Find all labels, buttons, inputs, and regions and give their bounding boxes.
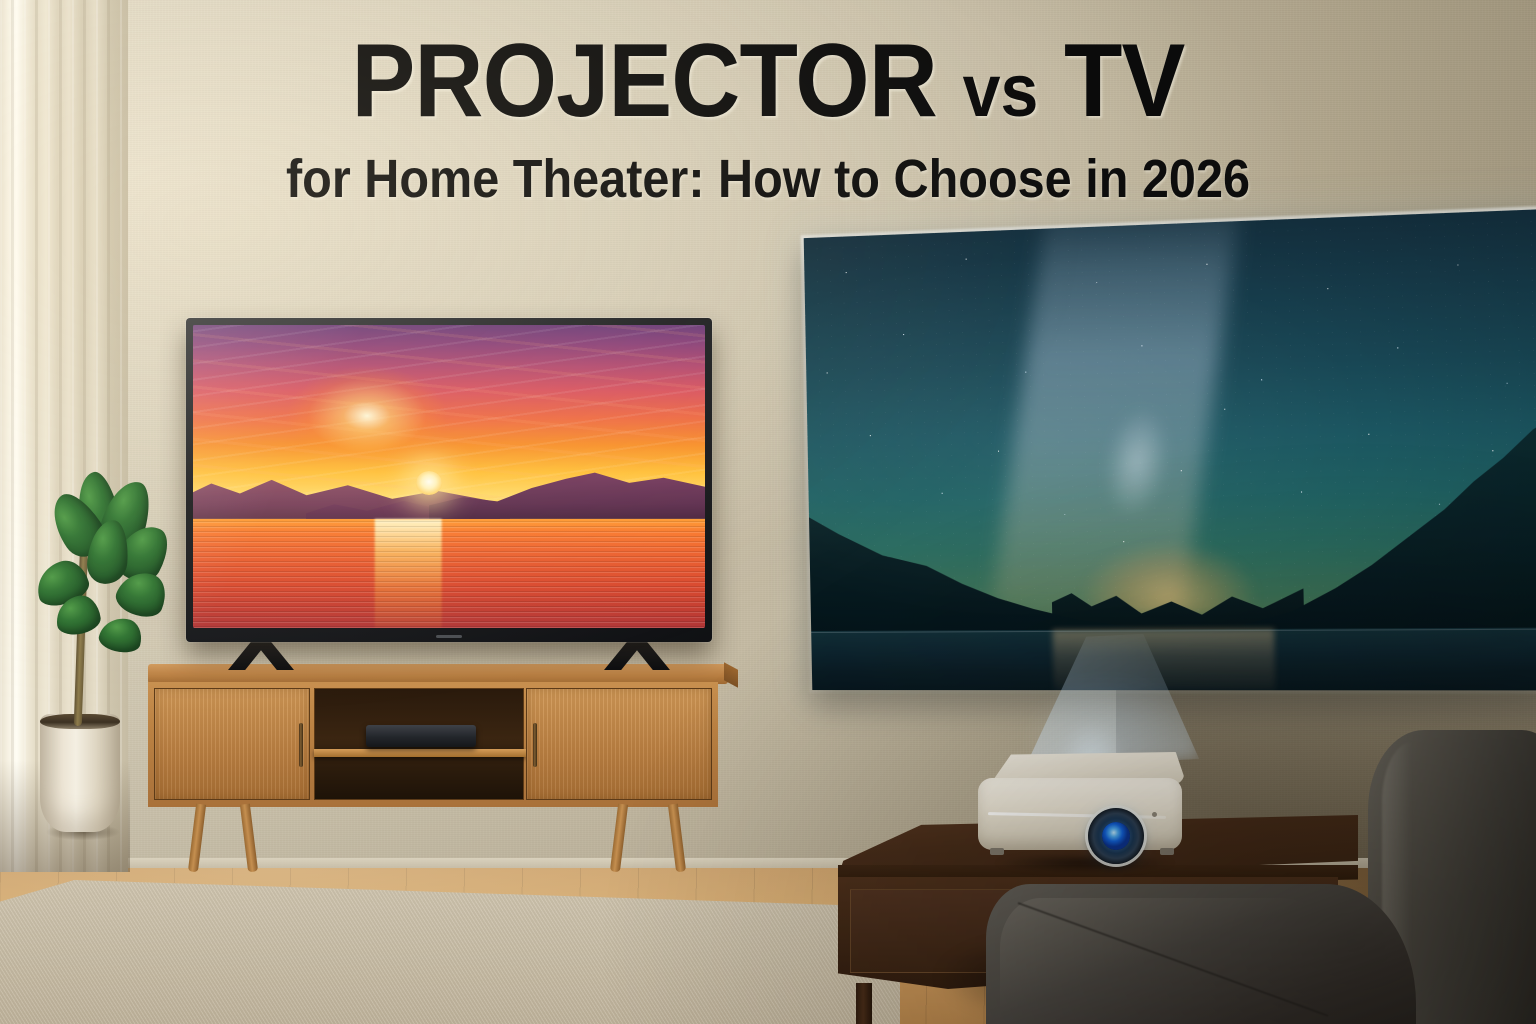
console-handle-left[interactable]	[299, 723, 303, 767]
soundbar-device[interactable]	[366, 725, 476, 747]
console-leg	[610, 804, 628, 873]
console-door-right[interactable]	[526, 688, 712, 800]
projector-foot	[1160, 848, 1174, 855]
tv-screen[interactable]	[193, 325, 705, 628]
tv-picture-ripples	[193, 519, 705, 628]
side-table-leg	[856, 983, 872, 1024]
console-handle-right[interactable]	[533, 723, 537, 767]
projector-foot	[990, 848, 1004, 855]
projection-horizon-glow	[1064, 483, 1274, 616]
flat-screen-tv[interactable]	[186, 318, 712, 642]
plant-pot	[40, 714, 120, 832]
projector-ir-sensor-icon	[1152, 812, 1157, 817]
media-console[interactable]	[148, 664, 728, 874]
projector[interactable]	[974, 752, 1190, 864]
tv-bezel	[186, 318, 712, 642]
projector-lens	[1102, 822, 1130, 850]
projected-image-surface	[804, 209, 1536, 690]
projection-lake-reflection	[1053, 629, 1276, 690]
console-leg	[668, 804, 686, 873]
tv-picture-sun	[416, 471, 442, 495]
tv-picture-sun-glow	[260, 349, 475, 482]
projected-image	[804, 209, 1536, 690]
console-leg	[188, 804, 206, 873]
console-shelf	[314, 749, 526, 757]
console-door-left[interactable]	[154, 688, 310, 800]
console-leg	[240, 804, 258, 873]
tv-indicator-led	[436, 635, 462, 638]
living-room-scene: PROJECTOR vs TV for Home Theater: How to…	[0, 0, 1536, 1024]
